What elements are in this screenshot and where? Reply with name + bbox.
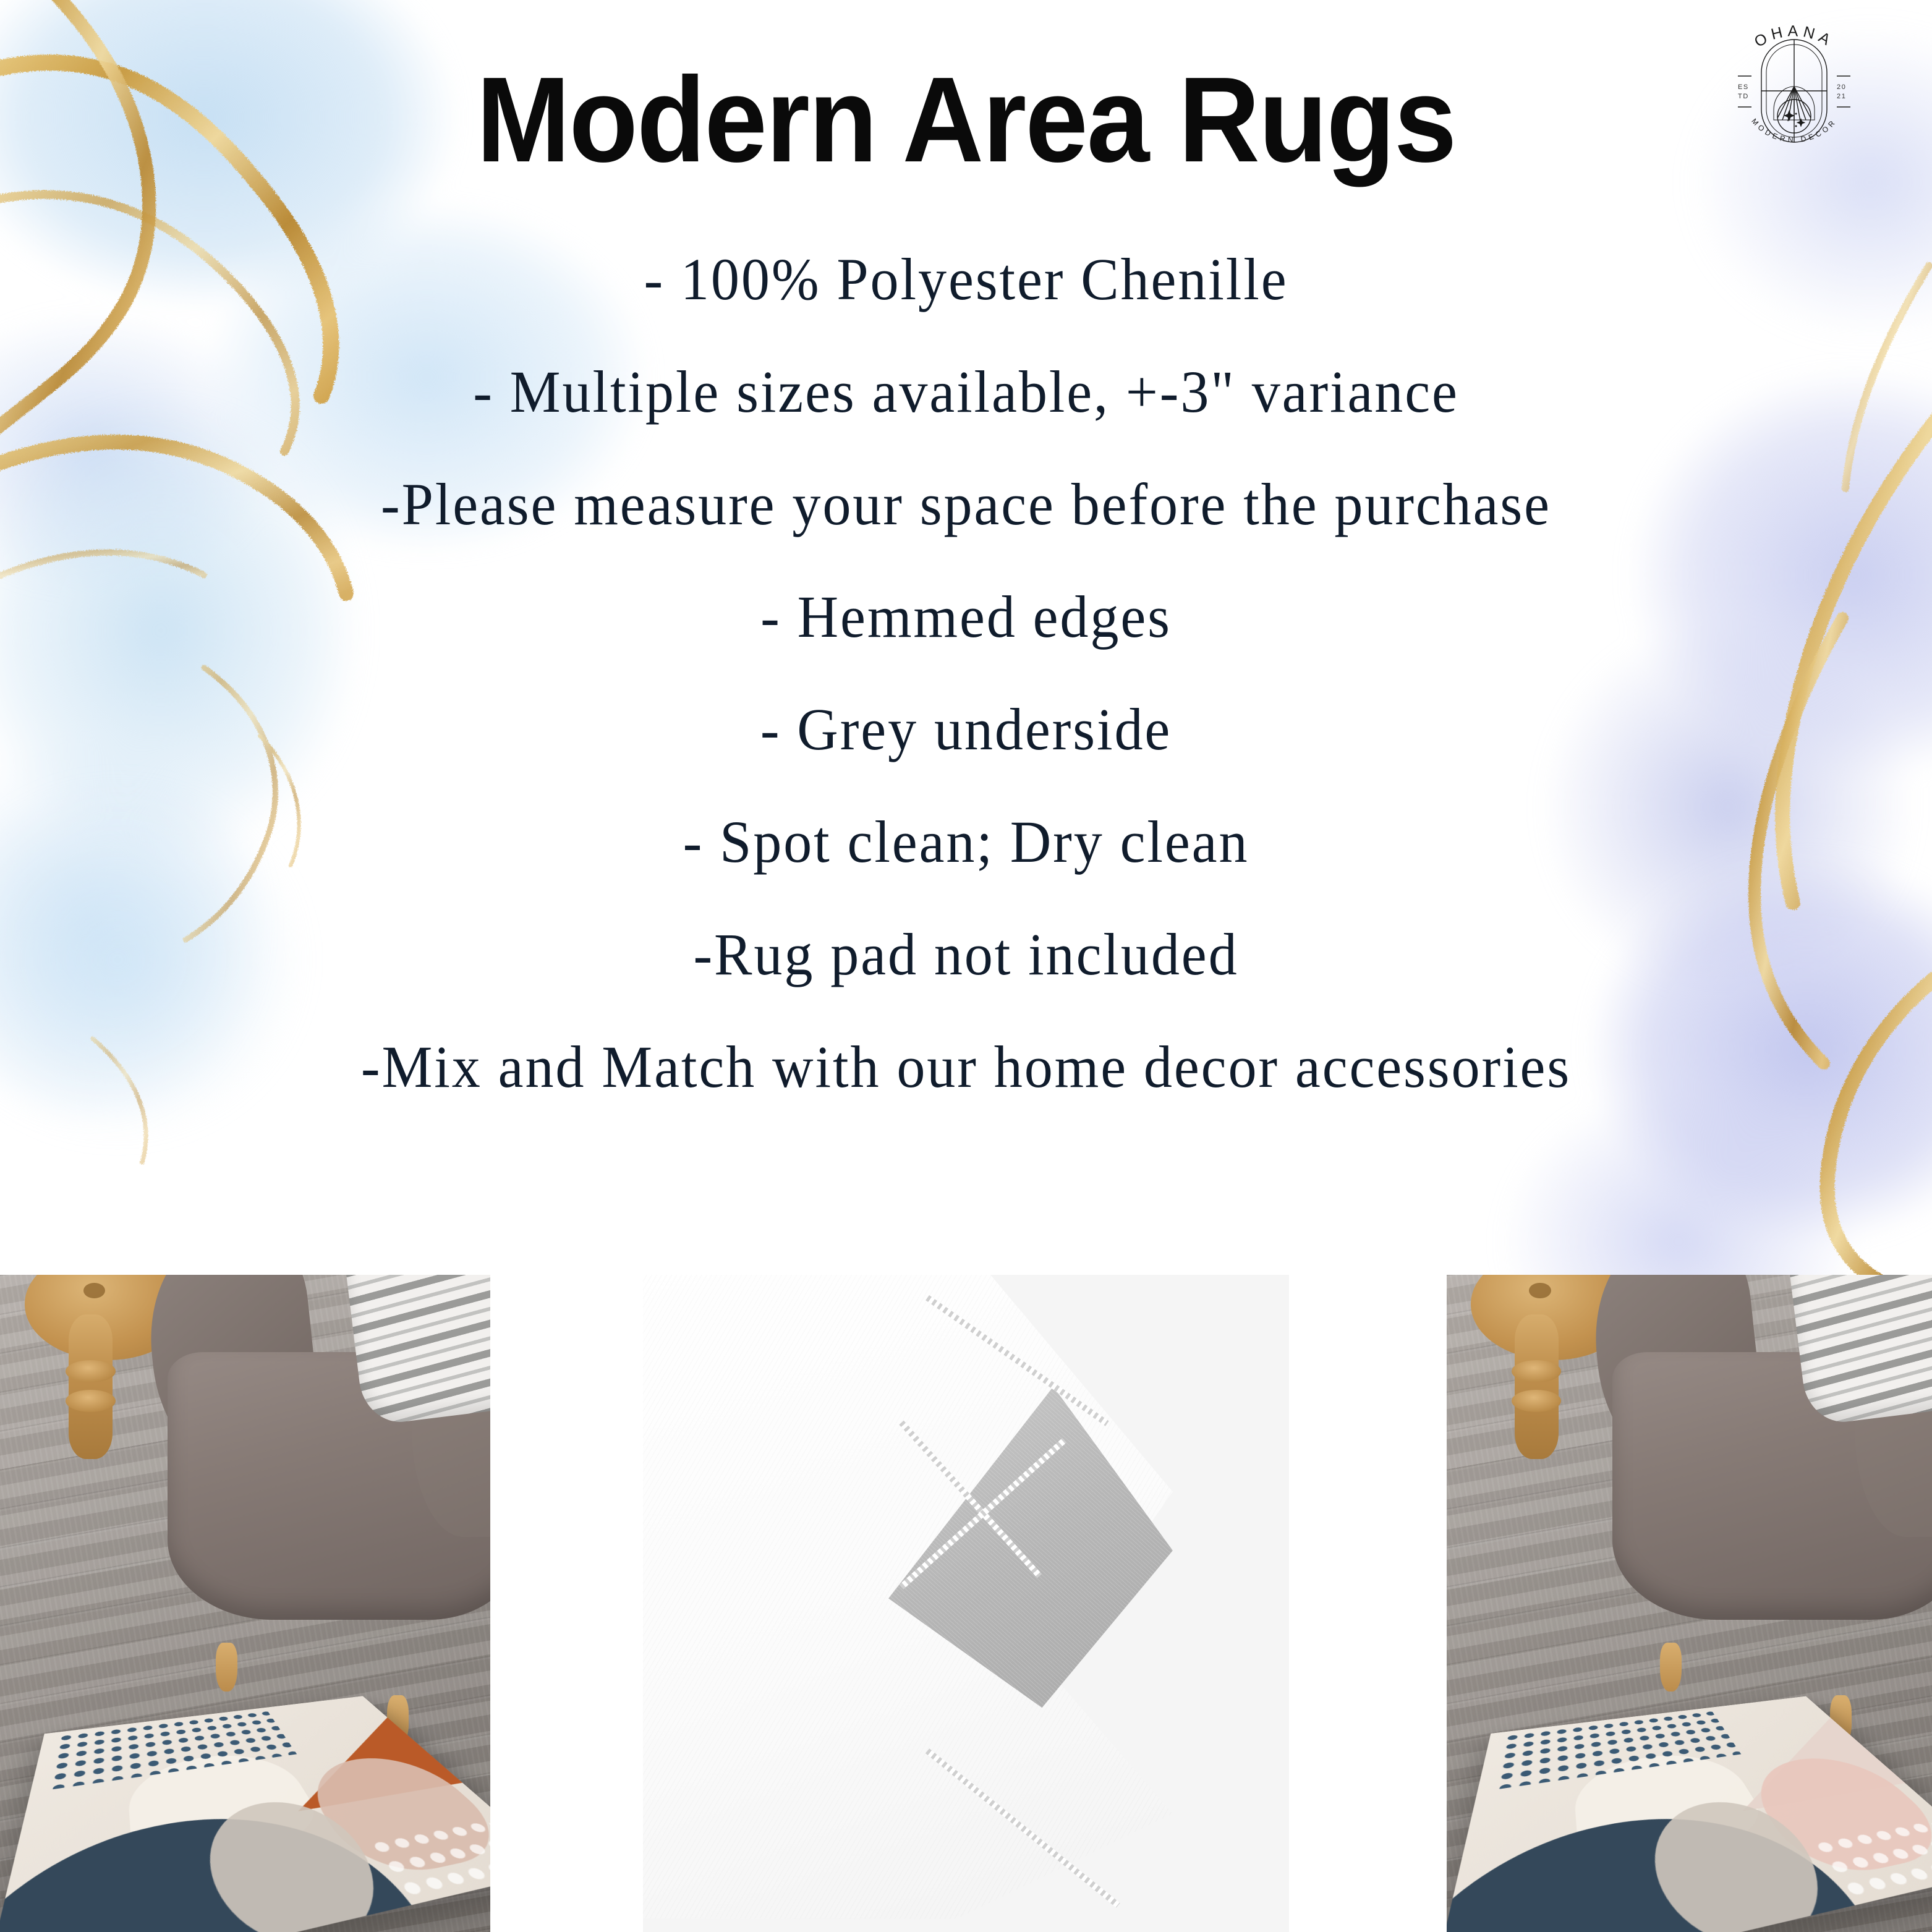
feature-list: - 100% Polyester Chenille - Multiple siz… xyxy=(0,250,1932,1097)
feature-item-measure: -Please measure your space before the pu… xyxy=(39,475,1894,534)
side-table-ring xyxy=(66,1390,116,1412)
feature-item-underside: - Grey underside xyxy=(39,700,1894,759)
page-title: Modern Area Rugs xyxy=(67,59,1864,181)
feature-item-material: - 100% Polyester Chenille xyxy=(39,250,1894,309)
product-photo-room-blush xyxy=(1447,1275,1932,1932)
side-table-ring xyxy=(1512,1390,1561,1412)
armchair xyxy=(152,1275,490,1722)
feature-item-sizes: - Multiple sizes available, +-3" varianc… xyxy=(39,362,1894,422)
feature-item-rug-pad: -Rug pad not included xyxy=(39,925,1894,984)
side-table-leg xyxy=(1515,1314,1559,1459)
feature-item-edges: - Hemmed edges xyxy=(39,587,1894,647)
side-table-knot xyxy=(1529,1283,1551,1299)
product-photo-room-rust xyxy=(0,1275,490,1932)
text-content-area: Modern Area Rugs - 100% Polyester Chenil… xyxy=(0,0,1932,1275)
feature-item-cleaning: - Spot clean; Dry clean xyxy=(39,812,1894,872)
armchair-leg xyxy=(216,1643,237,1692)
product-photo-strip xyxy=(0,1275,1932,1932)
product-listing-image: ES TD 20 21 OHANA MODERN DECOR Modern Ar… xyxy=(0,0,1932,1932)
armchair-leg xyxy=(1660,1643,1682,1692)
product-photo-underside xyxy=(643,1275,1289,1932)
armchair xyxy=(1597,1275,1932,1722)
side-table-leg xyxy=(69,1314,113,1459)
feature-item-mix-match: -Mix and Match with our home decor acces… xyxy=(39,1037,1894,1097)
